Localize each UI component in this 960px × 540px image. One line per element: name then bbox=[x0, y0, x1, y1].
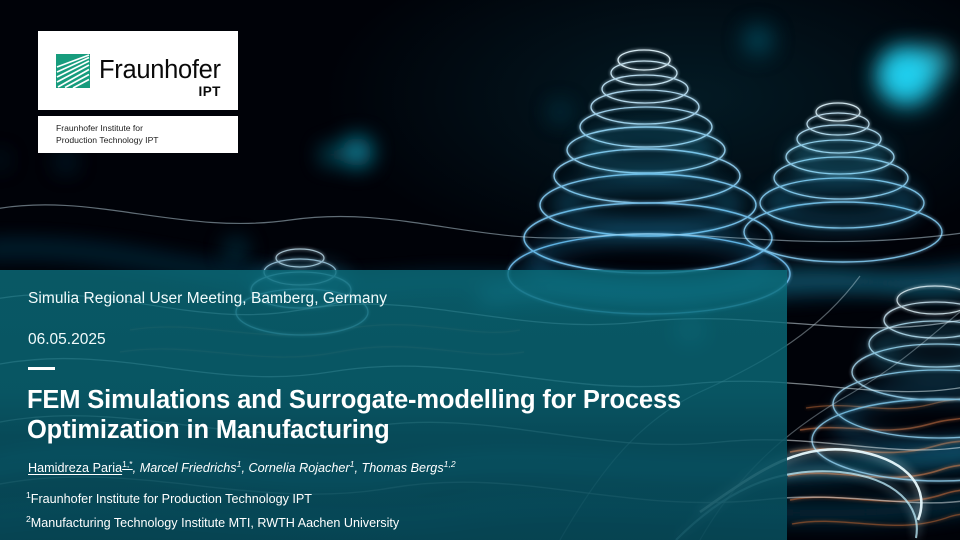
event-line: Simulia Regional User Meeting, Bamberg, … bbox=[28, 290, 387, 308]
coauthor-name-3: Thomas Bergs bbox=[362, 461, 444, 475]
date-line: 06.05.2025 bbox=[28, 331, 106, 349]
accent-dash-divider bbox=[28, 367, 55, 370]
author-separator-1: , bbox=[241, 461, 248, 475]
coauthor-sup-3: 1,2 bbox=[444, 459, 456, 469]
institute-name: Fraunhofer Institute for Production Tech… bbox=[56, 123, 238, 146]
logo-institute-tag: IPT bbox=[199, 85, 221, 99]
fraunhofer-institute-label-box: Fraunhofer Institute for Production Tech… bbox=[38, 116, 238, 153]
affiliation-text-1: Fraunhofer Institute for Production Tech… bbox=[31, 492, 312, 506]
author-separator-0: , bbox=[133, 461, 140, 475]
fraunhofer-diagonal-stripes-mark bbox=[56, 54, 90, 88]
author-separator-2: , bbox=[354, 461, 361, 475]
page-title: FEM Simulations and Surrogate-modelling … bbox=[27, 385, 772, 445]
author-list: Hamidreza Paria1,*, Marcel Friedrichs1, … bbox=[28, 459, 456, 475]
title-panel-content: Simulia Regional User Meeting, Bamberg, … bbox=[0, 270, 787, 540]
coauthor-name-1: Marcel Friedrichs bbox=[140, 461, 237, 475]
lead-author-superscript: 1,* bbox=[122, 459, 133, 469]
affiliation-list: 1Fraunhofer Institute for Production Tec… bbox=[26, 485, 399, 533]
affiliation-row: 2Manufacturing Technology Institute MTI,… bbox=[26, 509, 399, 533]
affiliation-row: 1Fraunhofer Institute for Production Tec… bbox=[26, 485, 399, 509]
lead-author-name: Hamidreza Paria bbox=[28, 461, 122, 475]
logo-wordmark: Fraunhofer bbox=[99, 56, 221, 84]
coauthor-name-2: Cornelia Rojacher bbox=[249, 461, 350, 475]
title-slide: Fraunhofer IPT Fraunhofer Institute for … bbox=[0, 0, 960, 540]
affiliation-text-2: Manufacturing Technology Institute MTI, … bbox=[31, 516, 399, 530]
fraunhofer-logo: Fraunhofer IPT bbox=[38, 31, 238, 110]
